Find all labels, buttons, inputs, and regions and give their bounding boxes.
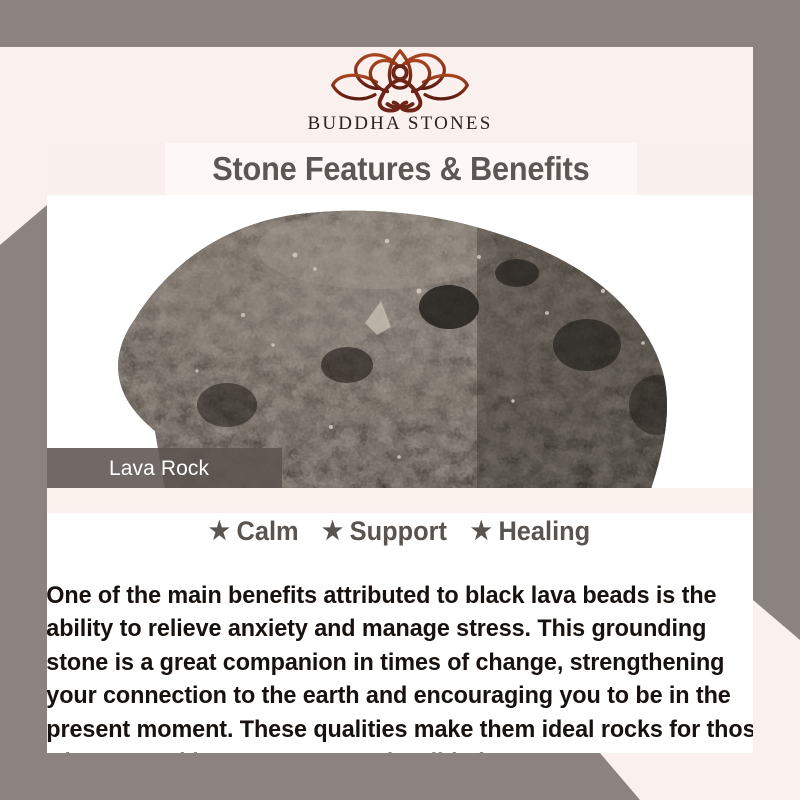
- description-section: One of the main benefits attributed to b…: [47, 549, 753, 753]
- keyword-calm: ★ Calm: [209, 516, 299, 547]
- star-icon: ★: [209, 519, 230, 544]
- brand-name: BUDDHA STONES: [307, 113, 492, 135]
- benefit-keywords: ★ Calm ★ Support ★ Healing: [47, 513, 753, 549]
- section-separator: [47, 488, 753, 505]
- frame-border-bottom: [0, 753, 640, 800]
- stone-photo: [47, 195, 753, 489]
- content-card: BUDDHA STONES Stone Features & Benefits: [47, 47, 753, 753]
- brand-logo: BUDDHA STONES: [47, 47, 753, 143]
- frame-border-left: [0, 205, 47, 800]
- page-title-text: Stone Features & Benefits: [212, 150, 589, 188]
- photo-caption-text: Lava Rock: [109, 457, 209, 481]
- photo-caption: Lava Rock: [47, 448, 282, 489]
- frame-border-right: [753, 0, 800, 640]
- page-title: Stone Features & Benefits: [165, 143, 637, 195]
- frame-border-top: [0, 0, 800, 47]
- keyword-support-label: Support: [349, 516, 446, 547]
- lotus-meditation-icon: [320, 47, 480, 115]
- keyword-calm-label: Calm: [237, 516, 299, 547]
- description-paragraph: One of the main benefits attributed to b…: [47, 579, 753, 754]
- keyword-support: ★ Support: [322, 516, 447, 547]
- star-icon: ★: [322, 519, 343, 544]
- lava-rock-image: [47, 195, 753, 489]
- keyword-healing: ★ Healing: [471, 516, 590, 547]
- keyword-healing-label: Healing: [498, 516, 590, 547]
- star-icon: ★: [471, 519, 492, 544]
- infographic-page: BUDDHA STONES Stone Features & Benefits: [0, 0, 800, 800]
